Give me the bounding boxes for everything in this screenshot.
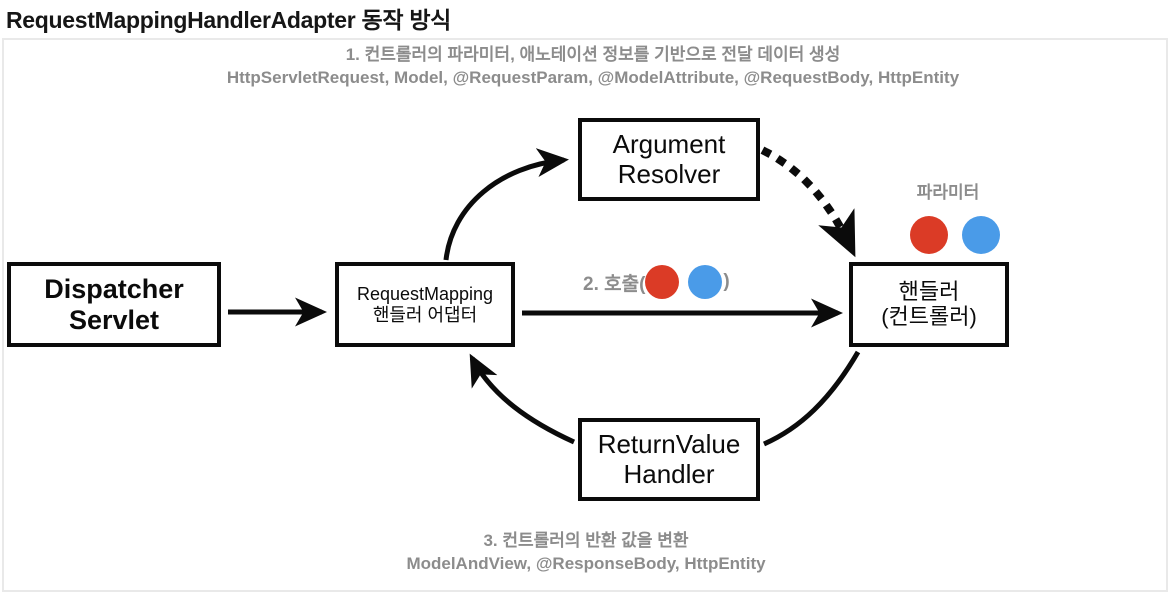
red-dot-icon (645, 265, 679, 299)
annotation-bottom: 3. 컨트롤러의 반환 값을 변환 ModelAndView, @Respons… (0, 530, 1172, 576)
parameter-dots (910, 216, 1000, 254)
page-title: RequestMappingHandlerAdapter 동작 방식 (6, 1, 451, 35)
blue-dot-icon (962, 216, 1000, 254)
node-dispatcher-servlet-line-2: Servlet (69, 305, 159, 335)
node-request-mapping-handler-adapter-line-2: 핸들러 어댑터 (373, 305, 477, 325)
label-parameter: 파라미터 (868, 178, 1028, 203)
diagram-page: RequestMappingHandlerAdapter 동작 방식 1. 컨트… (0, 0, 1172, 594)
node-return-value-handler-line-1: ReturnValue (598, 430, 741, 459)
node-handler-controller[interactable]: 핸들러 (컨트롤러) (849, 262, 1009, 347)
node-request-mapping-handler-adapter-line-1: RequestMapping (357, 284, 493, 304)
annotation-bottom-line-1: 3. 컨트롤러의 반환 값을 변환 (0, 530, 1172, 553)
red-dot-icon (910, 216, 948, 254)
node-return-value-handler-line-2: Handler (623, 460, 714, 489)
annotation-bottom-line-2: ModelAndView, @ResponseBody, HttpEntity (0, 553, 1172, 576)
annotation-top: 1. 컨트롤러의 파라미터, 애노테이션 정보를 기반으로 전달 데이터 생성 … (0, 44, 1172, 90)
annotation-top-line-2: HttpServletRequest, Model, @RequestParam… (0, 67, 1172, 90)
node-handler-controller-line-2: (컨트롤러) (881, 305, 977, 330)
label-call-prefix: 2. 호출( (583, 269, 645, 296)
node-dispatcher-servlet-line-1: Dispatcher (44, 274, 184, 304)
node-argument-resolver[interactable]: Argument Resolver (578, 118, 760, 201)
label-call-suffix: ) (722, 271, 730, 293)
label-call: 2. 호출( ) (583, 262, 731, 302)
node-dispatcher-servlet[interactable]: Dispatcher Servlet (7, 262, 221, 347)
node-return-value-handler[interactable]: ReturnValue Handler (578, 418, 760, 501)
node-handler-controller-line-1: 핸들러 (899, 280, 960, 305)
blue-dot-icon (688, 265, 722, 299)
node-request-mapping-handler-adapter[interactable]: RequestMapping 핸들러 어댑터 (335, 262, 515, 347)
node-argument-resolver-line-2: Resolver (618, 160, 721, 189)
node-argument-resolver-line-1: Argument (613, 130, 726, 159)
annotation-top-line-1: 1. 컨트롤러의 파라미터, 애노테이션 정보를 기반으로 전달 데이터 생성 (0, 44, 1172, 67)
